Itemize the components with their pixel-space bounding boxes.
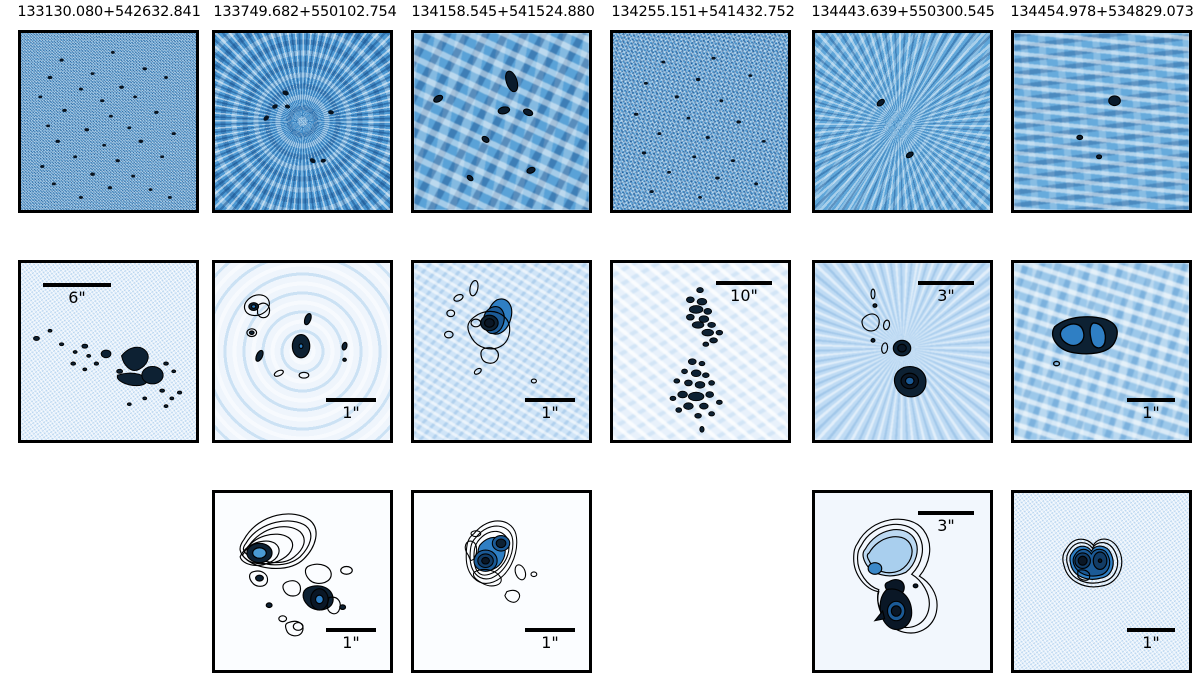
- scalebar-line: [716, 281, 772, 285]
- image-texture: [21, 33, 196, 210]
- scalebar-r3c2: 1": [326, 628, 376, 652]
- panel-r2c6[interactable]: 1": [1011, 260, 1192, 443]
- panel-r1c1[interactable]: [18, 30, 199, 213]
- scalebar-label: 1": [541, 635, 559, 652]
- scalebar-r2c5: 3": [918, 281, 974, 305]
- scalebar-line: [1127, 628, 1175, 632]
- scalebar-r2c3: 1": [525, 398, 575, 422]
- panel-r2c4[interactable]: 10": [610, 260, 791, 443]
- panel-r2c5[interactable]: 3": [812, 260, 993, 443]
- scalebar-line: [525, 398, 575, 402]
- panel-r3c2[interactable]: 1": [212, 490, 393, 673]
- scalebar-line: [326, 398, 376, 402]
- image-texture: [414, 33, 589, 210]
- image-texture: [613, 33, 788, 210]
- postage-stamp-figure: 133130.080+542632.841 133749.682+550102.…: [0, 0, 1200, 677]
- panel-r1c2[interactable]: [212, 30, 393, 213]
- scalebar-line: [918, 281, 974, 285]
- column-title-4: 134255.151+541432.752: [594, 4, 812, 20]
- scalebar-r3c5: 3": [918, 511, 974, 535]
- scalebar-line: [326, 628, 376, 632]
- scalebar-line: [43, 283, 111, 287]
- scalebar-line: [918, 511, 974, 515]
- scalebar-label: 6": [68, 290, 86, 307]
- panel-r1c6[interactable]: [1011, 30, 1192, 213]
- scalebar-line: [525, 628, 575, 632]
- scalebar-r2c6: 1": [1127, 398, 1175, 422]
- panel-r1c3[interactable]: [411, 30, 592, 213]
- panel-r2c2[interactable]: 1": [212, 260, 393, 443]
- column-title-6: 134454.978+534829.073: [993, 4, 1200, 20]
- scalebar-label: 3": [937, 288, 955, 305]
- panel-r3c5[interactable]: 3": [812, 490, 993, 673]
- panel-r1c4[interactable]: [610, 30, 791, 213]
- panel-r2c1[interactable]: 6": [18, 260, 199, 443]
- scalebar-label: 1": [1142, 635, 1160, 652]
- scalebar-label: 1": [342, 405, 360, 422]
- scalebar-label: 3": [937, 518, 955, 535]
- column-title-1: 133130.080+542632.841: [0, 4, 218, 20]
- scalebar-r2c2: 1": [326, 398, 376, 422]
- image-texture: [815, 33, 990, 210]
- column-title-2: 133749.682+550102.754: [196, 4, 414, 20]
- scalebar-label: 1": [1142, 405, 1160, 422]
- column-title-3: 134158.545+541524.880: [394, 4, 612, 20]
- scalebar-r3c3: 1": [525, 628, 575, 652]
- scalebar-r2c1: 6": [43, 283, 111, 307]
- scalebar-label: 1": [541, 405, 559, 422]
- image-texture: [215, 33, 390, 210]
- panel-r1c5[interactable]: [812, 30, 993, 213]
- scalebar-label: 10": [730, 288, 758, 305]
- column-title-5: 134443.639+550300.545: [794, 4, 1012, 20]
- panel-r3c6[interactable]: 1": [1011, 490, 1192, 673]
- image-texture: [1014, 33, 1189, 210]
- scalebar-line: [1127, 398, 1175, 402]
- scalebar-label: 1": [342, 635, 360, 652]
- panel-r3c3[interactable]: 1": [411, 490, 592, 673]
- scalebar-r3c6: 1": [1127, 628, 1175, 652]
- scalebar-r2c4: 10": [716, 281, 772, 305]
- panel-r2c3[interactable]: 1": [411, 260, 592, 443]
